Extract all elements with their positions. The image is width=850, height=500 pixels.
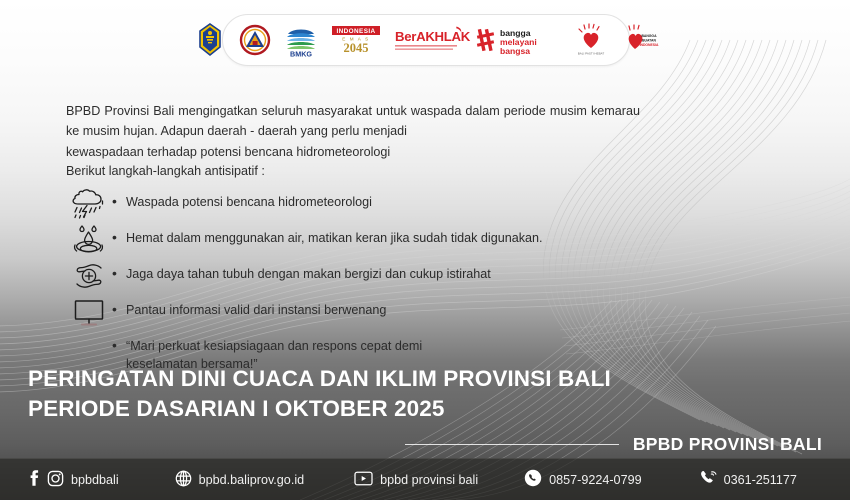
footer-label-youtube: bpbd provinsi bali xyxy=(380,473,478,487)
logo-pasti-hebat: BALI PASTI HEBAT xyxy=(573,22,609,58)
logo-berakhlak: BerAKHLAK xyxy=(393,22,465,58)
list-item-text: Hemat dalam menggunakan air, matikan ker… xyxy=(126,229,543,247)
logo-indonesia-emas-2045: INDONESIA E M A S 2045 xyxy=(330,22,382,58)
svg-text:BALI PASTI HEBAT: BALI PASTI HEBAT xyxy=(577,52,604,56)
logo-bmkg: BMKG xyxy=(283,22,319,58)
intro-line-2: kewaspadaan terhadap potensi bencana hid… xyxy=(66,142,640,162)
svg-text:bangsa: bangsa xyxy=(500,46,530,56)
list-bullet: • xyxy=(112,229,126,247)
water-drop-icon xyxy=(66,222,112,258)
list-item: • Pantau informasi valid dari instansi b… xyxy=(66,294,666,330)
logo-bpbd xyxy=(238,22,272,58)
footer-label-social: bpbdbali xyxy=(71,473,119,487)
list-bullet: • xyxy=(112,337,126,355)
storm-cloud-icon xyxy=(66,186,112,222)
svg-text:BerAKHLAK: BerAKHLAK xyxy=(395,29,471,44)
headline-line-2: PERIODE DASARIAN I OKTOBER 2025 xyxy=(28,394,728,424)
svg-text:INDONESIA: INDONESIA xyxy=(336,28,375,35)
list-bullet: • xyxy=(112,193,126,211)
footer-item-whatsapp[interactable]: 0857-9224-0799 xyxy=(524,469,641,490)
list-item: • Hemat dalam menggunakan air, matikan k… xyxy=(66,222,666,258)
footer-label-website: bpbd.baliprov.go.id xyxy=(199,473,305,487)
svg-text:BANGGA: BANGGA xyxy=(641,34,657,38)
logo-bangga-melayani-bangsa: bangga melayani bangsa xyxy=(476,22,562,58)
no-icon-spacer xyxy=(66,330,112,366)
poster-canvas: BMKG INDONESIA E M A S 2045 BerAKHLAK xyxy=(0,0,850,500)
partner-logo-strip: BMKG INDONESIA E M A S 2045 BerAKHLAK xyxy=(222,14,630,66)
headline-line-1: PERINGATAN DINI CUACA DAN IKLIM PROVINSI… xyxy=(28,364,728,394)
footer-item-youtube[interactable]: bpbd provinsi bali xyxy=(354,471,478,489)
logo-bangga-buatan-indonesia: BANGGA BUATAN INDONESIA xyxy=(620,22,660,58)
footer-item-phone[interactable]: 0361-251177 xyxy=(698,469,797,490)
svg-text:INDONESIA: INDONESIA xyxy=(639,43,658,47)
whatsapp-icon[interactable] xyxy=(524,469,542,490)
svg-text:2045: 2045 xyxy=(343,41,368,55)
intro-line-1: BPBD Provinsi Bali mengingatkan seluruh … xyxy=(66,104,640,138)
list-item: • Jaga daya tahan tubuh dengan makan ber… xyxy=(66,258,666,294)
list-item-text: Pantau informasi valid dari instansi ber… xyxy=(126,301,386,319)
list-item-text: Jaga daya tahan tubuh dengan makan bergi… xyxy=(126,265,491,283)
divider-rule xyxy=(405,444,619,445)
footer-item-website[interactable]: bpbd.baliprov.go.id xyxy=(175,470,305,490)
health-hands-icon xyxy=(66,258,112,294)
intro-paragraph: BPBD Provinsi Bali mengingatkan seluruh … xyxy=(66,101,640,162)
organization-name: BPBD PROVINSI BALI xyxy=(633,434,822,455)
list-bullet: • xyxy=(112,301,126,319)
logo-pemprov-bali xyxy=(193,22,227,58)
list-item: • Waspada potensi bencana hidrometeorolo… xyxy=(66,186,666,222)
svg-text:BUATAN: BUATAN xyxy=(642,39,656,43)
instagram-icon[interactable] xyxy=(47,470,64,490)
footer-label-whatsapp: 0857-9224-0799 xyxy=(549,473,641,487)
monitor-icon xyxy=(66,294,112,330)
organization-row: BPBD PROVINSI BALI xyxy=(0,430,850,458)
steps-lead-in: Berikut langkah-langkah antisipatif : xyxy=(66,164,265,178)
svg-text:BMKG: BMKG xyxy=(290,50,312,59)
list-item-text: Waspada potensi bencana hidrometeorologi xyxy=(126,193,372,211)
footer-item-social[interactable]: bpbdbali xyxy=(26,470,119,490)
antisipatif-steps-list: • Waspada potensi bencana hidrometeorolo… xyxy=(66,186,666,374)
page-title: PERINGATAN DINI CUACA DAN IKLIM PROVINSI… xyxy=(28,364,728,424)
facebook-icon[interactable] xyxy=(26,470,40,489)
footer-label-phone: 0361-251177 xyxy=(724,473,797,487)
list-bullet: • xyxy=(112,265,126,283)
globe-icon[interactable] xyxy=(175,470,192,490)
phone-icon[interactable] xyxy=(698,469,717,490)
contact-footer-bar: bpbdbali bpbd.baliprov.go.id bpbd provin… xyxy=(0,458,850,500)
youtube-icon[interactable] xyxy=(354,471,373,489)
